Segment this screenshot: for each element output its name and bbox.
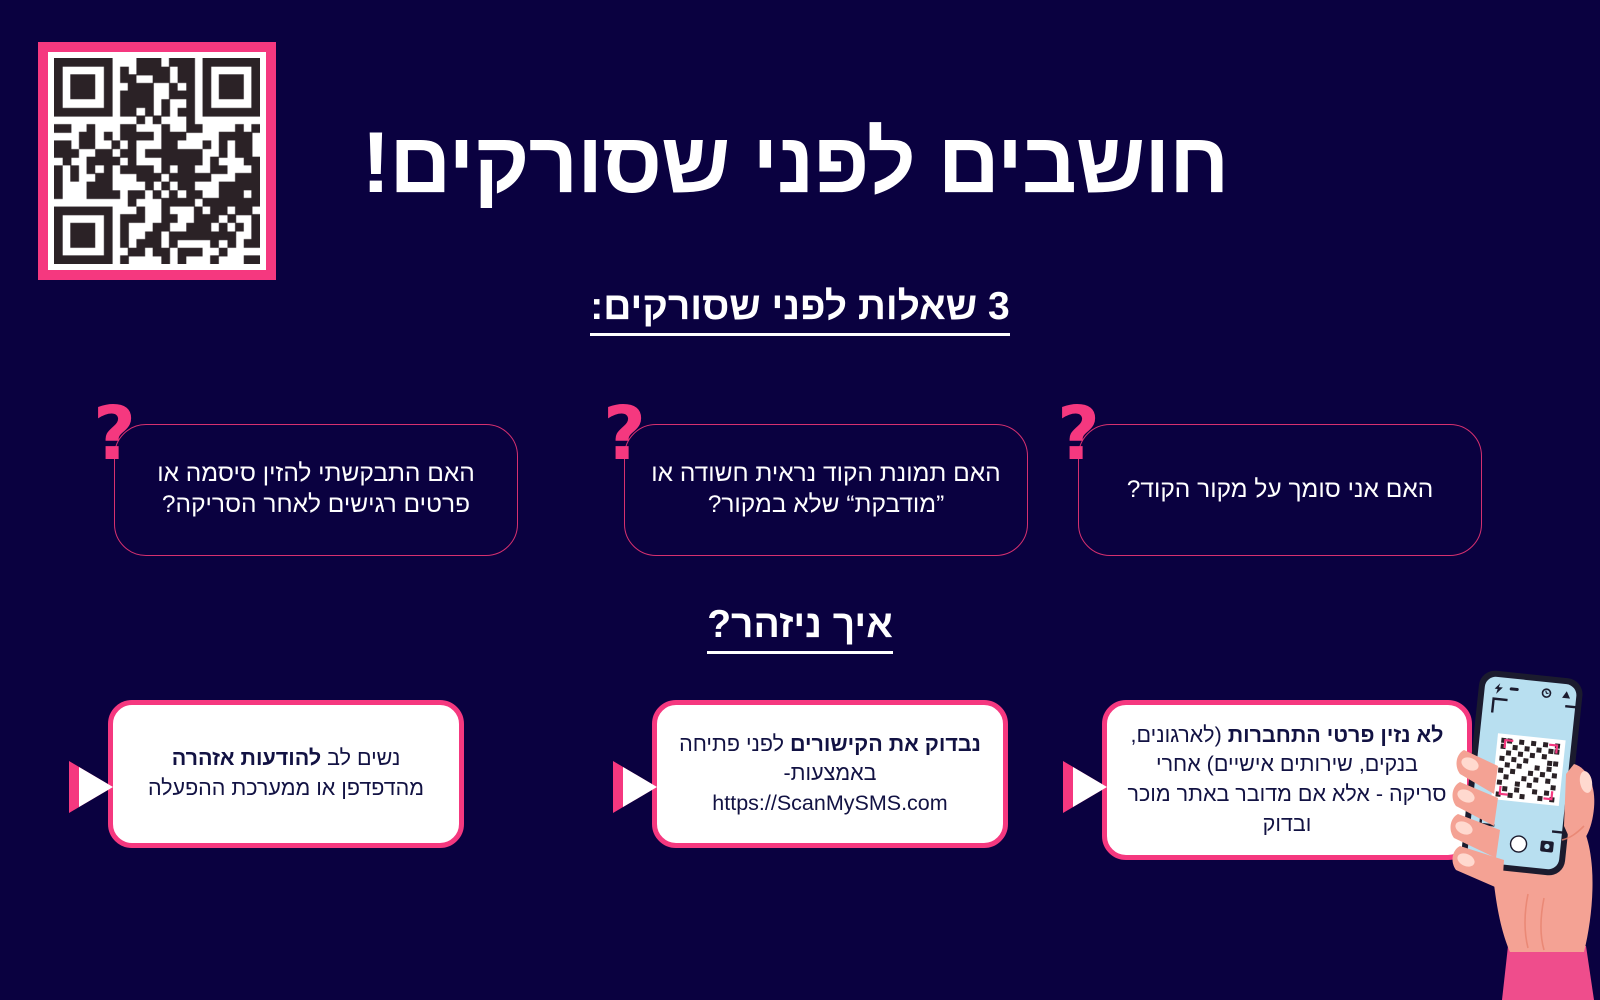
qr-code-block[interactable] xyxy=(38,42,276,280)
bubble-tail-fill-icon xyxy=(1073,767,1107,807)
questions-section-heading: 3 שאלות לפני שסורקים: xyxy=(470,285,1130,336)
question-card-text: האם אני סומך על מקור הקוד? xyxy=(1101,475,1459,506)
question-mark-icon: ? xyxy=(93,397,136,471)
sleeve-icon xyxy=(1502,946,1594,1000)
question-mark-icon: ? xyxy=(603,397,646,471)
infographic-canvas: חושבים לפני שסורקים! 3 שאלות לפני שסורקי… xyxy=(0,0,1600,1000)
bubble-tail-fill-icon xyxy=(79,767,113,807)
tip-bubble-text: נבדוק את הקישורים לפני פתיחה באמצעות- ht… xyxy=(657,718,1003,831)
tip-bubble-text: נשים לב להודעות אזהרה מהדפדפן או ממערכת … xyxy=(113,732,459,815)
qr-code-inner xyxy=(48,52,266,270)
tip-bubble[interactable]: נשים לב להודעות אזהרה מהדפדפן או ממערכת … xyxy=(108,700,464,848)
question-card[interactable]: ? האם אני סומך על מקור הקוד? xyxy=(1078,424,1482,556)
scanned-qr-icon xyxy=(1491,733,1566,806)
question-card-text: האם תמונת הקוד נראית חשודה או ”מודבקת“ ש… xyxy=(625,459,1027,521)
tip-bubble[interactable]: נבדוק את הקישורים לפני פתיחה באמצעות- ht… xyxy=(652,700,1008,848)
question-card-text: האם התבקשתי להזין סיסמה או פרטים רגישים … xyxy=(115,459,517,521)
question-card[interactable]: ? האם התבקשתי להזין סיסמה או פרטים רגישי… xyxy=(114,424,518,556)
qr-code-icon xyxy=(54,58,260,264)
how-section-heading-text: איך ניזהר? xyxy=(707,603,893,654)
page-title: חושבים לפני שסורקים! xyxy=(290,118,1300,208)
bubble-tail-fill-icon xyxy=(623,767,657,807)
question-mark-icon: ? xyxy=(1057,397,1100,471)
question-card[interactable]: ? האם תמונת הקוד נראית חשודה או ”מודבקת“… xyxy=(624,424,1028,556)
how-section-heading: איך ניזהר? xyxy=(630,603,970,654)
hand-holding-phone-illustration xyxy=(1398,646,1600,1000)
questions-section-heading-text: 3 שאלות לפני שסורקים: xyxy=(590,285,1009,336)
